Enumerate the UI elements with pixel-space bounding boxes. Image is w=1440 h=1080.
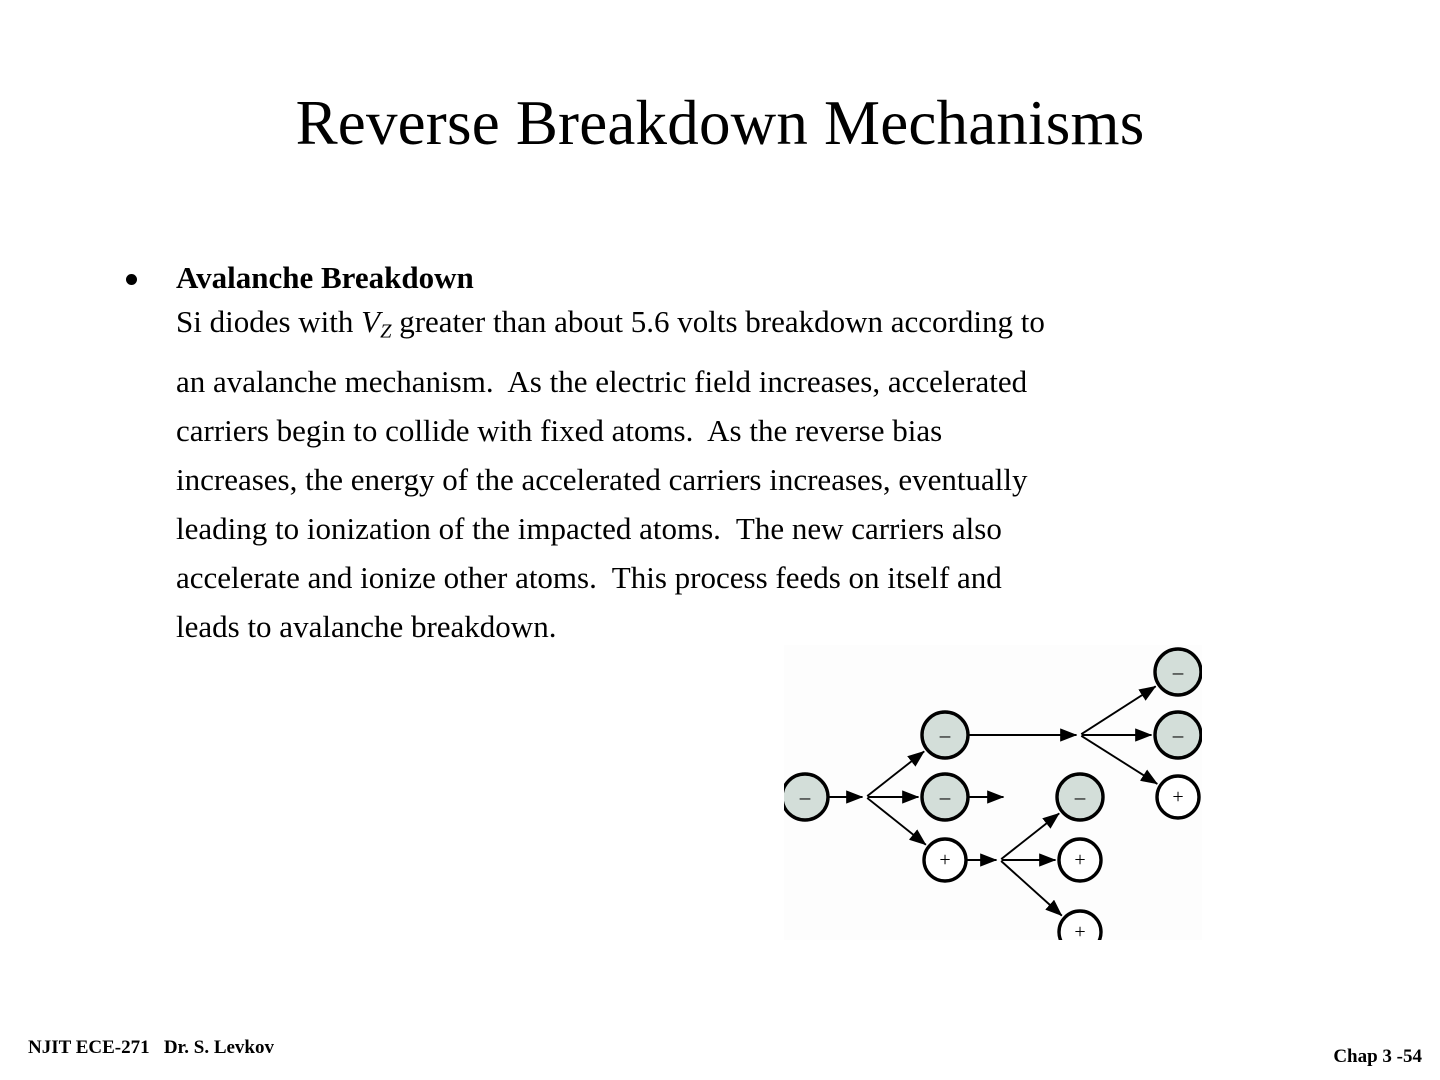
bullet-item-avalanche: Avalanche Breakdown Si diodes with VZ gr… xyxy=(118,262,1318,651)
paragraph-line-1b: greater than about 5.6 volts breakdown a… xyxy=(391,304,1044,339)
symbol-vz-base: V xyxy=(361,304,380,339)
diagram-node-n8-hole: + xyxy=(1059,839,1101,881)
node-label: – xyxy=(1074,785,1086,809)
paragraph-line-3: carriers begin to collide with fixed ato… xyxy=(176,406,1321,455)
diagram-node-n4-electron: – xyxy=(1057,774,1103,820)
paragraph-line-4: increases, the energy of the accelerated… xyxy=(176,455,1321,504)
paragraph-line-1: Si diodes with VZ greater than about 5.6… xyxy=(176,297,1321,357)
bullet-heading: Avalanche Breakdown xyxy=(176,262,1318,293)
node-label: + xyxy=(1074,921,1085,940)
paragraph-line-1a: Si diodes with xyxy=(176,304,361,339)
body-content: Avalanche Breakdown Si diodes with VZ gr… xyxy=(118,262,1318,651)
paragraph-line-5: leading to ionization of the impacted at… xyxy=(176,504,1321,553)
symbol-vz: VZ xyxy=(361,304,391,339)
avalanche-multiplication-diagram: –––+–––+++ xyxy=(784,645,1202,940)
node-label: + xyxy=(1172,786,1183,808)
diagram-nodes: –––+–––+++ xyxy=(784,649,1201,940)
node-label: – xyxy=(1172,660,1184,684)
diagram-edge-b3-to-n4 xyxy=(1001,813,1059,859)
node-label: – xyxy=(1172,723,1184,747)
diagram-node-n5-electron: – xyxy=(1155,649,1201,695)
node-label: – xyxy=(939,785,951,809)
diagram-edge-b1-to-n1 xyxy=(867,751,924,796)
diagram-node-n9-hole: + xyxy=(1059,911,1101,940)
diagram-svg: –––+–––+++ xyxy=(784,645,1202,940)
paragraph-line-2: an avalanche mechanism. As the electric … xyxy=(176,357,1321,406)
node-label: + xyxy=(939,849,950,871)
bullet-dot-icon xyxy=(126,274,137,285)
paragraph-line-6: accelerate and ionize other atoms. This … xyxy=(176,553,1321,602)
diagram-node-n2-electron: – xyxy=(922,774,968,820)
node-label: – xyxy=(799,785,811,809)
node-label: – xyxy=(939,723,951,747)
body-paragraph: Si diodes with VZ greater than about 5.6… xyxy=(176,297,1321,651)
diagram-edge-b2-to-n5 xyxy=(1081,686,1155,734)
diagram-edges xyxy=(830,686,1158,915)
diagram-edge-b1-to-n3 xyxy=(867,798,926,845)
diagram-node-n0-electron: – xyxy=(784,774,828,820)
footer-page-number: Chap 3 -54 xyxy=(1333,1046,1422,1068)
page-title: Reverse Breakdown Mechanisms xyxy=(0,90,1440,156)
diagram-node-n7-hole: + xyxy=(1157,776,1199,818)
diagram-node-n6-electron: – xyxy=(1155,712,1201,758)
diagram-node-n3-hole: + xyxy=(924,839,966,881)
node-label: + xyxy=(1074,849,1085,871)
symbol-vz-subscript: Z xyxy=(380,321,391,343)
footer-course-info: NJIT ECE-271 Dr. S. Levkov xyxy=(28,1037,274,1059)
diagram-node-n1-electron: – xyxy=(922,712,968,758)
diagram-edge-b3-to-n9 xyxy=(1001,861,1062,916)
slide-canvas: Reverse Breakdown Mechanisms Avalanche B… xyxy=(0,0,1440,1080)
paragraph-line-7: leads to avalanche breakdown. xyxy=(176,602,1321,651)
